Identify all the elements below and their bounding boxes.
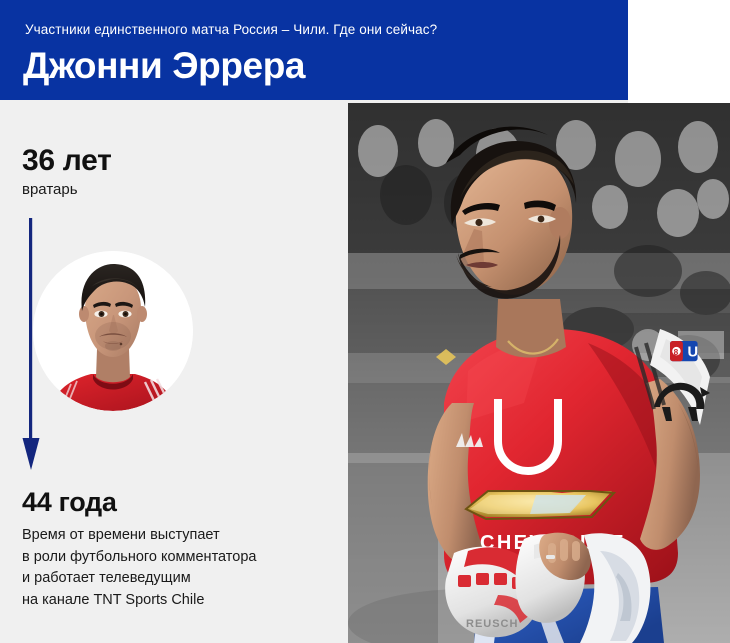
then-age: 36 лет: [22, 145, 112, 177]
now-description-line: Время от времени выступает: [22, 525, 256, 547]
then-block: 36 лет вратарь: [22, 145, 112, 199]
now-age: 44 года: [22, 487, 256, 517]
svg-text:8: 8: [674, 348, 679, 357]
now-description-line: на канале TNT Sports Chile: [22, 590, 256, 612]
then-role: вратарь: [22, 181, 112, 199]
logo-container: [628, 0, 730, 103]
now-description: Время от времени выступает в роли футбол…: [22, 525, 256, 611]
now-block: 44 года Время от времени выступает в рол…: [22, 487, 256, 611]
player-headshot: [33, 251, 193, 411]
action-photo-illustration: U 8: [348, 103, 730, 643]
svg-text:U: U: [687, 345, 698, 361]
now-description-line: в роли футбольного комментатора: [22, 547, 256, 569]
now-description-line: и работает телеведущим: [22, 568, 256, 590]
infographic-card: Участники единственного матча Россия – Ч…: [0, 0, 730, 643]
player-action-photo: U 8: [348, 103, 730, 643]
header-kicker: Участники единственного матча Россия – Ч…: [25, 22, 437, 37]
svg-text:REUSCH: REUSCH: [466, 618, 518, 630]
header-banner: Участники единственного матча Россия – Ч…: [0, 0, 628, 100]
page-title: Джонни Эррера: [23, 44, 305, 88]
headshot-illustration: [33, 251, 193, 411]
